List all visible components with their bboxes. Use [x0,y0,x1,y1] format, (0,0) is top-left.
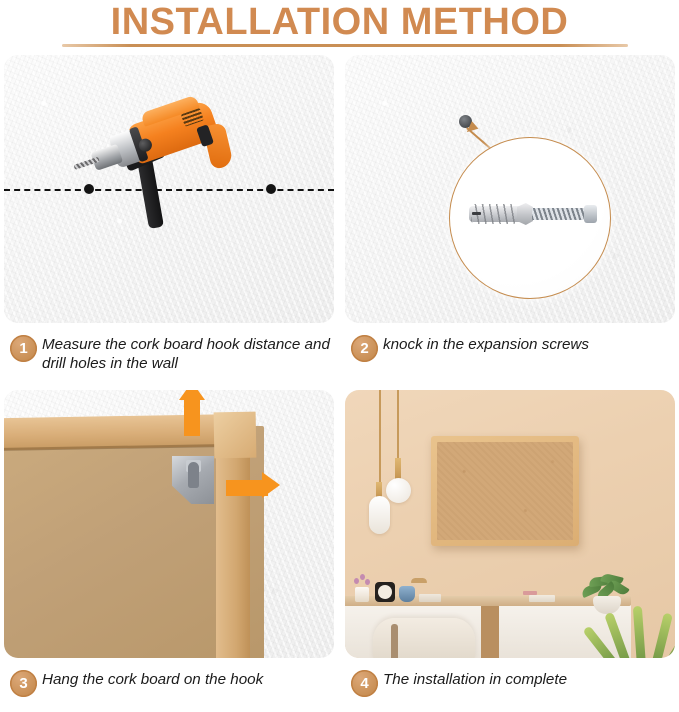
cork-board-surface [437,442,573,540]
desk-notebook [529,595,555,602]
screw-head [584,205,597,223]
pendant-cord-right [397,390,399,460]
clock-face [378,585,392,599]
desk-small-book [523,591,537,595]
step-number-badge-4: 4 [351,670,378,697]
expansion-anchor-illustration [469,203,597,225]
anchor-collar [517,203,533,225]
plant-blade [651,613,673,658]
step-caption-text-1: Measure the cork board hook distance and… [42,333,334,373]
desk-chair [373,618,475,658]
pendant-cylinder-lamp [369,496,390,534]
step-4-caption: 4 The installation in complete [345,668,675,712]
step-1-image [4,55,334,323]
up-arrow-shaft-icon [184,396,200,436]
pendant-cord-left [379,390,381,486]
step-caption-text-2: knock in the expansion screws [383,333,675,354]
step-number-badge-3: 3 [10,670,37,697]
steps-grid: 1 Measure the cork board hook distance a… [0,55,679,703]
step-2-caption: 2 knock in the expansion screws [345,333,675,377]
right-arrow-head-icon [262,472,280,498]
plant-blade [633,606,646,658]
tulip-bloom [365,579,370,585]
pendant-brass-stem-right [395,458,401,480]
stacked-books [419,594,441,602]
title-underline-rule [62,44,628,47]
lamp-shade [411,578,427,583]
wooden-frame-corner [214,412,257,459]
step-1-caption: 1 Measure the cork board hook distance a… [4,333,334,377]
desk-clock [375,582,395,602]
step-card-2: 2 knock in the expansion screws [345,55,675,377]
corner-floor-plant [607,596,675,658]
up-arrow-head-icon [179,390,205,400]
tulip-bloom [360,574,365,580]
screw-threaded-shaft [532,208,586,220]
pendant-globe-lamp [386,478,411,503]
right-hole-marker-dot-icon [266,184,276,194]
tulip-bloom [354,578,359,584]
step-card-4: 4 The installation in complete [345,390,675,712]
step-card-1: 1 Measure the cork board hook distance a… [4,55,334,377]
step-number-badge-1: 1 [10,335,37,362]
glass-vase [355,587,369,602]
flower-vase-with-tulips [353,574,371,602]
desk-opening [481,605,499,658]
step-number-badge-2: 2 [351,335,378,362]
page-title: INSTALLATION METHOD [0,0,679,42]
step-2-image [345,55,675,323]
chair-seam [391,624,398,658]
mounted-cork-board-frame [431,436,579,546]
step-3-image [4,390,334,658]
anchor-slit [472,212,481,215]
step-3-caption: 3 Hang the cork board on the hook [4,668,334,712]
blue-ceramic-vase [399,586,415,602]
step-caption-text-4: The installation in complete [383,668,675,689]
step-caption-text-3: Hang the cork board on the hook [42,668,334,689]
step-4-image [345,390,675,658]
step-card-3: 3 Hang the cork board on the hook [4,390,334,712]
hook-keyhole-slot [188,462,199,488]
